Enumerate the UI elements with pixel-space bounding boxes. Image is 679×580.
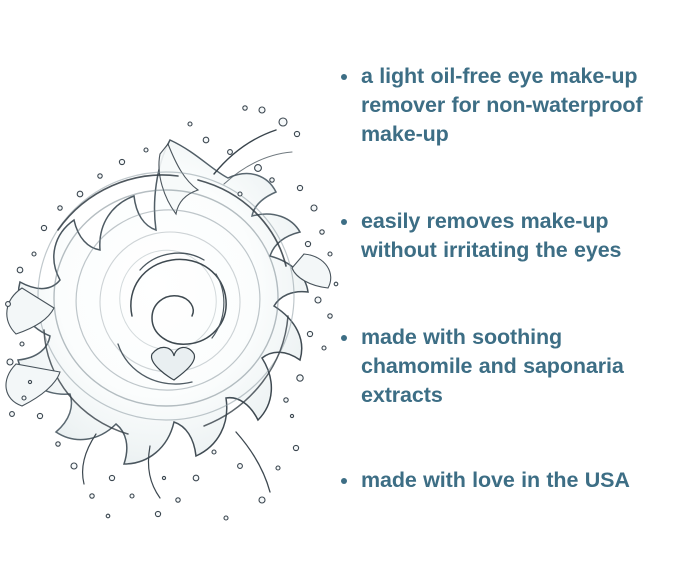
bullet-dot-icon — [341, 219, 347, 225]
water-splash-image — [0, 48, 340, 538]
bullet-dot-icon — [341, 74, 347, 80]
list-item: easily removes make-up without irritatin… — [336, 207, 674, 265]
feature-text: easily removes make-up without irritatin… — [361, 207, 674, 265]
feature-text: made with love in the USA — [361, 466, 674, 495]
bottom-stream-right — [236, 432, 270, 492]
infographic-canvas: a light oil-free eye make-up remover for… — [0, 0, 679, 580]
water-splash-icon — [0, 48, 340, 538]
list-item: made with love in the USA — [336, 466, 674, 495]
bullet-dot-icon — [341, 335, 347, 341]
bottom-stream-left — [83, 434, 97, 484]
list-item: a light oil-free eye make-up remover for… — [336, 62, 674, 149]
list-item: made with soothing chamomile and saponar… — [336, 323, 674, 410]
splash-body — [6, 130, 331, 498]
feature-text: made with soothing chamomile and saponar… — [361, 323, 674, 410]
feature-text: a light oil-free eye make-up remover for… — [361, 62, 674, 149]
feature-bullet-list: a light oil-free eye make-up remover for… — [336, 62, 674, 495]
left-flare-2 — [6, 364, 60, 406]
bullet-dot-icon — [341, 478, 347, 484]
